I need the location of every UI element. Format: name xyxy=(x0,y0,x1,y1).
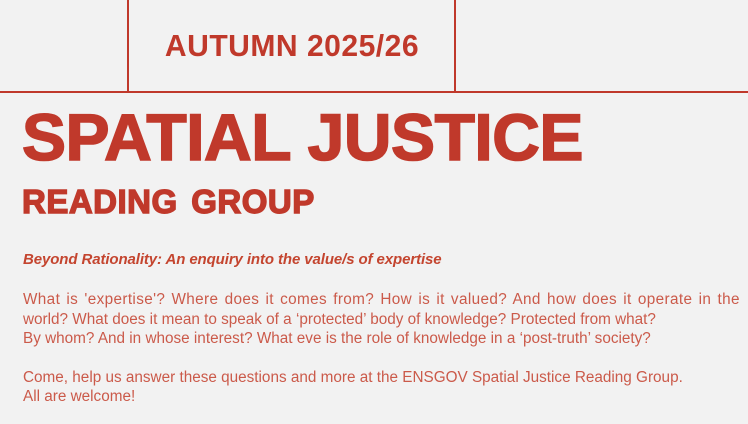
page-title: SPATIAL JUSTICE xyxy=(22,106,732,168)
poster-canvas: AUTUMN 2025/26 SPATIAL JUSTICE Reading G… xyxy=(0,0,748,424)
banner-strip: AUTUMN 2025/26 xyxy=(0,0,748,93)
body-paragraph-2: Come, help us answer these questions and… xyxy=(23,368,731,407)
banner-divider-right xyxy=(454,0,456,92)
body-line: world? What does it mean to speak of a ‘… xyxy=(23,310,731,330)
title-block: SPATIAL JUSTICE Reading Group xyxy=(22,106,732,223)
body-line: Come, help us answer these questions and… xyxy=(23,368,731,388)
paragraph-spacer xyxy=(23,349,731,368)
body-copy: What is 'expertise'? Where does it comes… xyxy=(23,290,731,407)
season-label: AUTUMN 2025/26 xyxy=(164,28,418,64)
page-subtitle: Reading Group xyxy=(22,168,732,223)
body-line: What is 'expertise'? Where does it comes… xyxy=(23,290,731,310)
body-line: By whom? And in whose interest? What eve… xyxy=(23,329,731,349)
strapline: Beyond Rationality: An enquiry into the … xyxy=(23,251,442,268)
body-paragraph-1: What is 'expertise'? Where does it comes… xyxy=(23,290,731,349)
season-box: AUTUMN 2025/26 xyxy=(129,0,454,91)
body-line: All are welcome! xyxy=(23,387,731,407)
banner-divider-bottom xyxy=(0,91,748,93)
